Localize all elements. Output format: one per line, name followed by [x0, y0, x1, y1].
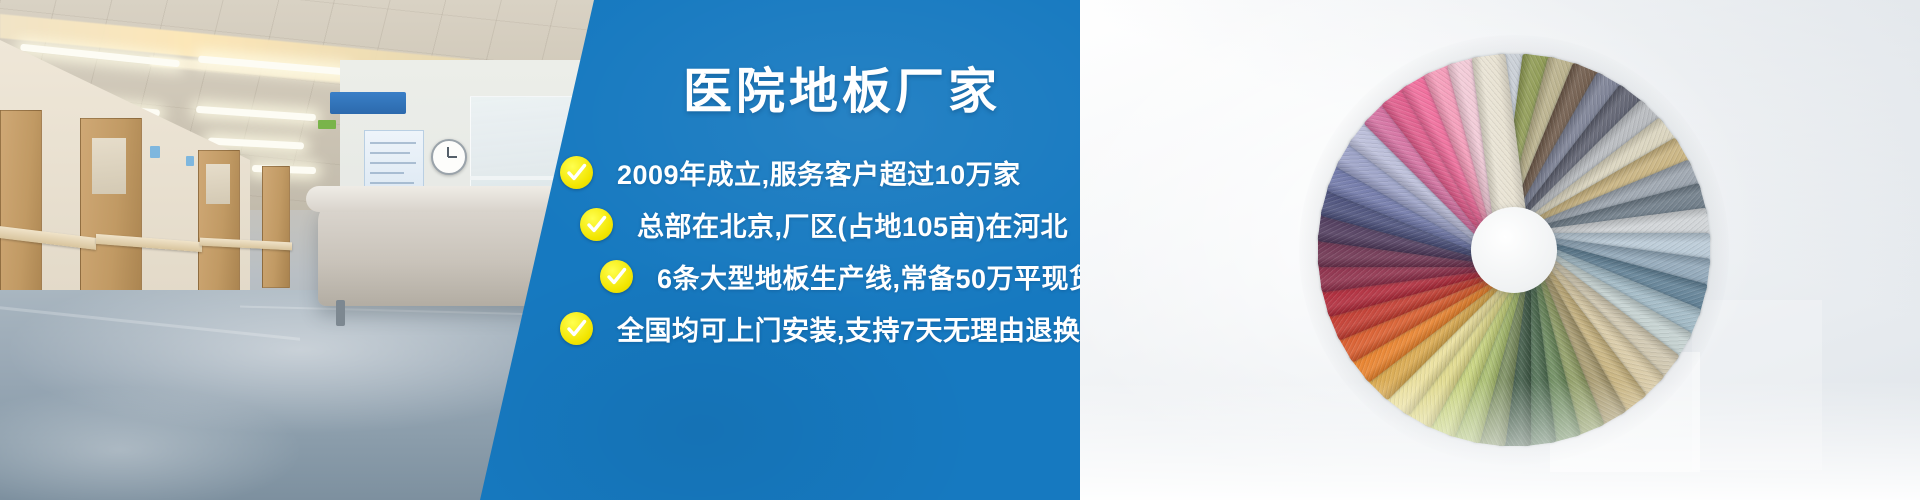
page-title: 医院地板厂家	[683, 68, 1001, 117]
list-item-label: 全国均可上门安装,支持7天无理由退换	[617, 309, 1081, 348]
board-line	[370, 172, 404, 174]
board-line	[370, 162, 416, 164]
desk-counter	[306, 186, 574, 212]
list-item: 2009年成立,服务客户超过10万家	[560, 146, 1120, 198]
door-vision-panel	[206, 164, 230, 204]
check-circle-icon	[580, 208, 613, 241]
exit-sign	[318, 120, 336, 129]
feature-list: 2009年成立,服务客户超过10万家 总部在北京,厂区(占地105亩)在河北 6…	[560, 146, 1120, 354]
desk-leg	[336, 300, 345, 326]
list-item-label: 总部在北京,厂区(占地105亩)在河北	[637, 205, 1068, 244]
nurse-station-sign	[330, 92, 406, 114]
list-item: 全国均可上门安装,支持7天无理由退换	[560, 302, 1120, 354]
list-item: 总部在北京,厂区(占地105亩)在河北	[580, 198, 1120, 250]
bottom-fade	[1080, 380, 1920, 500]
wall-clock	[431, 139, 467, 175]
promo-banner: 医院地板厂家 2009年成立,服务客户超过10万家 总部在北京,厂区(占地105…	[0, 0, 1920, 500]
check-circle-icon	[560, 312, 593, 345]
door-vision-panel	[92, 138, 126, 194]
wall-plaque	[186, 156, 194, 166]
list-item: 6条大型地板生产线,常备50万平现货	[600, 250, 1120, 302]
board-line	[370, 152, 410, 154]
fan-hub	[1471, 207, 1557, 293]
check-circle-icon	[600, 260, 633, 293]
wall-plaque	[150, 146, 160, 158]
list-item-label: 2009年成立,服务客户超过10万家	[617, 153, 1021, 192]
list-item-label: 6条大型地板生产线,常备50万平现货	[657, 257, 1097, 296]
board-line	[370, 182, 414, 184]
check-circle-icon	[560, 156, 593, 189]
board-line	[370, 142, 416, 144]
wooden-door	[262, 166, 290, 288]
